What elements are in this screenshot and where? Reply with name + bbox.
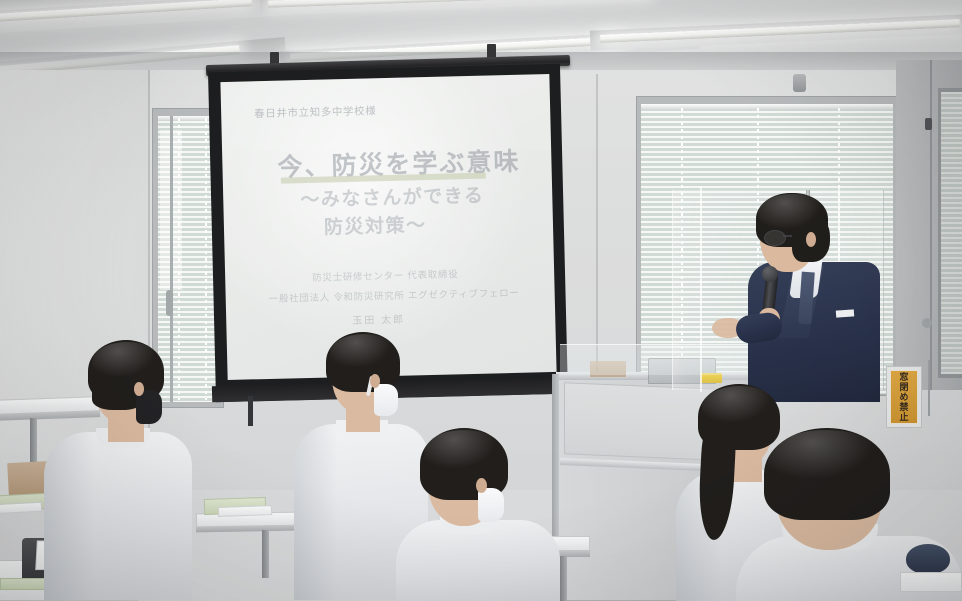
sign-hanging-cord <box>928 360 930 416</box>
slide-subtitle-line1: ～みなさんができる <box>300 181 485 212</box>
left-blind-seam-2 <box>205 118 207 400</box>
screen-stand-pole <box>248 396 253 426</box>
left-window-handle[interactable] <box>166 290 173 316</box>
student-3-mask <box>478 488 504 522</box>
student-3-ear <box>476 478 487 493</box>
far-right-knob[interactable] <box>922 318 932 328</box>
left-window-mullion <box>170 116 173 402</box>
white-papers-left <box>0 502 42 515</box>
student-2-ear <box>370 374 380 388</box>
speaker-ear <box>806 232 816 247</box>
white-papers-middle <box>218 505 272 517</box>
ceiling-sensor <box>793 74 806 92</box>
student-2-shirt-shade <box>294 424 338 600</box>
desk-middle-leg <box>262 530 269 578</box>
classroom-photo: 春日井市立知多中学校様 今、防災を学ぶ意味 ～みなさんができる 防災対策～ 防災… <box>0 0 962 601</box>
slide-presenter-name: 玉田 太郎 <box>352 311 405 327</box>
right-window-top-bar <box>641 104 893 110</box>
slide-credential-line2: 一般社団法人 令和防災研究所 エグゼクティブフェロー <box>269 285 520 305</box>
slide-subtitle-line2: 防災対策～ <box>324 210 427 239</box>
slide-credential-line1: 防災士研修センター 代表取締役 <box>312 266 458 284</box>
student-2-hair-sheen <box>330 334 398 372</box>
student-3-hair-sheen <box>424 430 504 474</box>
screen-bracket-right <box>487 44 496 58</box>
far-right-wall-seam <box>930 60 932 390</box>
speaker-hair-sheen <box>758 194 828 234</box>
microphone-head <box>762 266 778 282</box>
speaker-glasses <box>764 230 786 246</box>
speaker-glasses-bridge <box>783 235 792 237</box>
speaker-pocket-square <box>836 309 854 317</box>
student-1-hair-sheen <box>92 342 162 382</box>
acrylic-edge-left <box>700 186 702 392</box>
student-1-shirt-shade <box>44 432 94 600</box>
wall-sign: 窓閉め禁止 <box>890 370 918 424</box>
white-papers-right <box>900 572 962 592</box>
desk-middle-front-leg <box>560 556 567 601</box>
student-2-mask <box>374 384 398 416</box>
navy-cap <box>906 544 950 574</box>
student-4-hair-sheen <box>702 386 778 428</box>
slide-header-text: 春日井市立知多中学校様 <box>254 103 376 121</box>
student-5-hair-sheen <box>768 430 884 486</box>
student-1-ear <box>134 382 144 396</box>
wall-sign-text: 窓閉め禁止 <box>898 372 911 422</box>
slide-content: 春日井市立知多中学校様 今、防災を学ぶ意味 ～みなさんができる 防災対策～ 防災… <box>220 74 556 380</box>
far-right-latch[interactable] <box>925 118 932 130</box>
far-right-blinds <box>941 92 962 374</box>
